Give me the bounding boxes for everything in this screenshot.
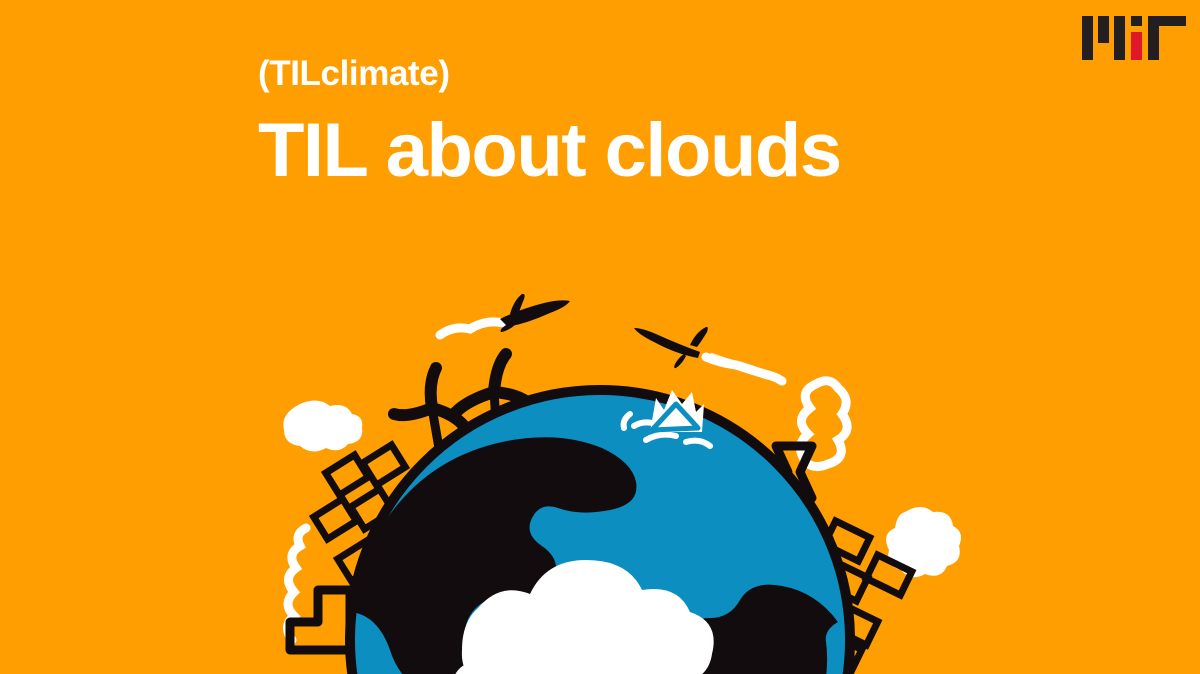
- cloud-icon: [283, 400, 362, 451]
- factory-smokestack-icon: [290, 590, 350, 650]
- podcast-cover-art: MIT (TILclimate) TIL about clouds: [0, 0, 1200, 674]
- contrail-icon: [706, 355, 782, 381]
- globe: [350, 390, 850, 674]
- airplane-icon: [500, 294, 570, 332]
- climate-globe-illustration: [0, 0, 1200, 674]
- airplane-icon: [634, 327, 708, 368]
